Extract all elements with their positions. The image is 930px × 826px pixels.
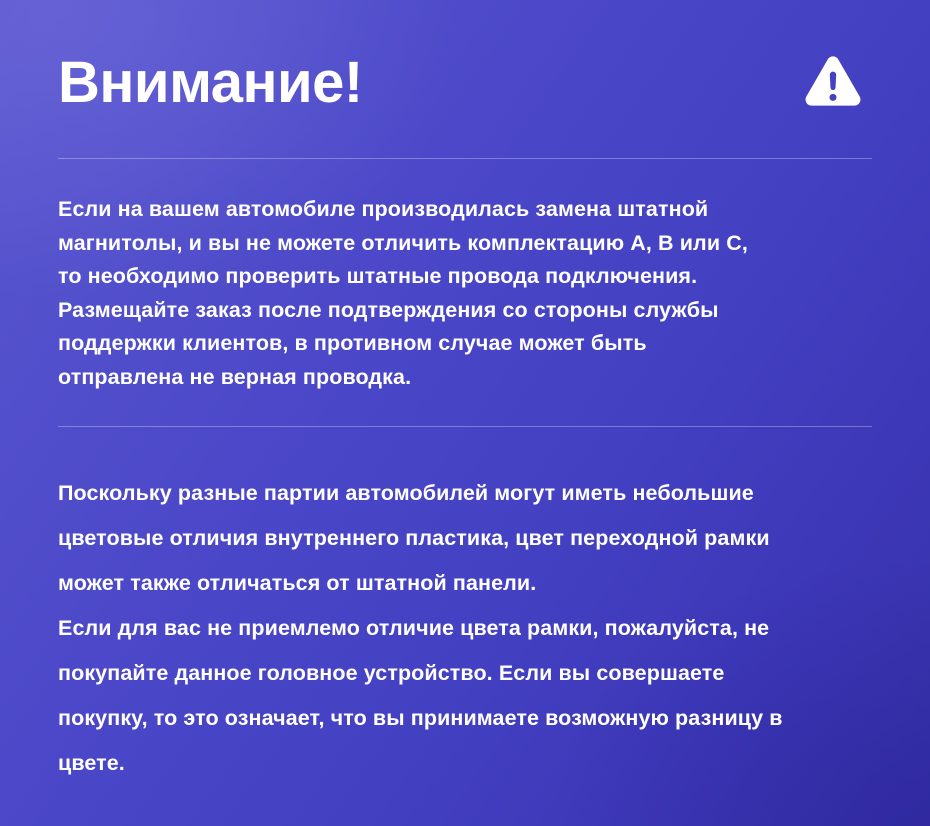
text-line: покупайте данное головное устройство. Ес… (58, 651, 872, 696)
warning-notice-banner: Внимание! Если на вашем автомобиле произ… (0, 0, 930, 826)
text-line: покупку, то это означает, что вы принима… (58, 696, 872, 741)
text-line: отправлена не верная проводка. (58, 361, 870, 395)
primary-warning-text: Если на вашем автомобиле производилась з… (58, 193, 870, 394)
secondary-paragraph-one: Поскольку разные партии автомобилей могу… (58, 471, 872, 606)
text-line: поддержки клиентов, в противном случае м… (58, 327, 870, 361)
text-line: Размещайте заказ после подтверждения со … (58, 294, 870, 328)
notice-header: Внимание! (58, 0, 872, 114)
text-line: Если на вашем автомобиле производилась з… (58, 193, 870, 227)
divider-middle (58, 426, 872, 427)
text-line: может также отличаться от штатной панели… (58, 561, 872, 606)
secondary-warning-text: Поскольку разные партии автомобилей могу… (58, 471, 872, 786)
secondary-paragraph-two: Если для вас не приемлемо отличие цвета … (58, 606, 872, 786)
warning-triangle-icon (802, 52, 864, 114)
page-title: Внимание! (58, 54, 363, 112)
notice-content: Внимание! Если на вашем автомобиле произ… (0, 0, 930, 826)
text-line: Поскольку разные партии автомобилей могу… (58, 471, 872, 516)
text-line: цветовые отличия внутреннего пластика, ц… (58, 516, 872, 561)
text-line: цвете. (58, 741, 872, 786)
text-line: магнитолы, и вы не можете отличить компл… (58, 227, 870, 261)
text-line: то необходимо проверить штатные провода … (58, 260, 870, 294)
primary-paragraph: Если на вашем автомобиле производилась з… (58, 193, 870, 394)
divider-top (58, 158, 872, 159)
text-line: Если для вас не приемлемо отличие цвета … (58, 606, 872, 651)
